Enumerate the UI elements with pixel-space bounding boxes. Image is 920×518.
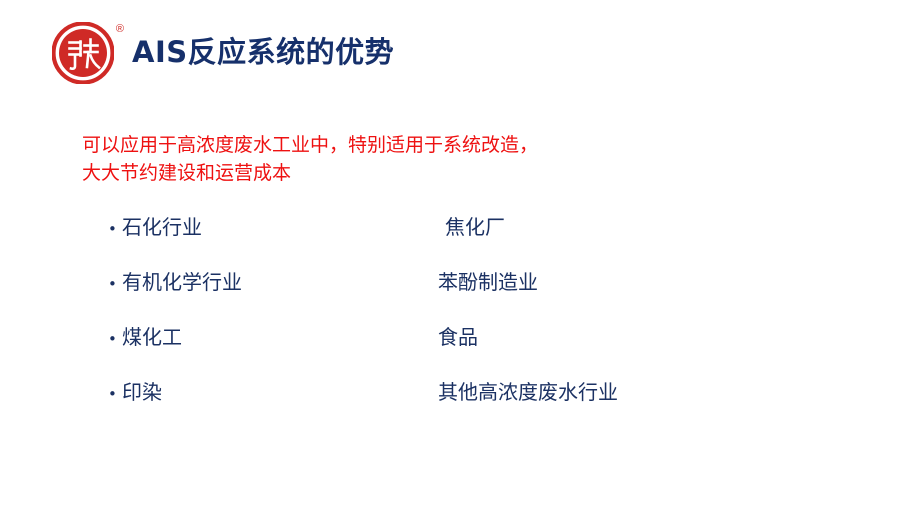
lead-paragraph: 可以应用于高浓度废水工业中，特别适用于系统改造， 大大节约建设和运营成本 (82, 131, 782, 187)
bullet-icon: • (108, 326, 122, 352)
list-row: • 石化行业 焦化厂 (108, 214, 848, 269)
registered-trademark-icon: ® (116, 24, 124, 35)
zhang-seal-logo-icon (52, 22, 114, 84)
page-title: AIS反应系统的优势 (132, 38, 394, 69)
company-logo: ® (52, 22, 114, 84)
list-item-label-left: 印染 (122, 379, 162, 405)
list-item-label-right: 其他高浓度废水行业 (438, 379, 618, 405)
list-item-label-left: 有机化学行业 (122, 269, 242, 295)
bullet-icon: • (108, 271, 122, 297)
list-item-left: • 石化行业 (108, 214, 438, 242)
list-row: • 有机化学行业 苯酚制造业 (108, 269, 848, 324)
list-item-left: • 印染 (108, 379, 438, 407)
bullet-icon: • (108, 216, 122, 242)
list-item-label-right: 苯酚制造业 (438, 269, 538, 295)
lead-line-1: 可以应用于高浓度废水工业中，特别适用于系统改造， (82, 131, 782, 159)
list-item-label-right: 焦化厂 (445, 214, 505, 240)
list-row: • 印染 其他高浓度废水行业 (108, 379, 848, 434)
slide-header: ® AIS反应系统的优势 (52, 20, 394, 86)
bullet-icon: • (108, 381, 122, 407)
list-item-left: • 有机化学行业 (108, 269, 438, 297)
list-row: • 煤化工 食品 (108, 324, 848, 379)
list-item-left: • 煤化工 (108, 324, 438, 352)
list-item-label-right: 食品 (438, 324, 478, 350)
list-item-label-left: 石化行业 (122, 214, 202, 240)
slide-canvas: ® AIS反应系统的优势 可以应用于高浓度废水工业中，特别适用于系统改造， 大大… (0, 0, 920, 518)
list-item-label-left: 煤化工 (122, 324, 182, 350)
lead-line-2: 大大节约建设和运营成本 (82, 159, 782, 187)
industry-list: • 石化行业 焦化厂 • 有机化学行业 苯酚制造业 • 煤化工 食品 • 印染 (108, 214, 848, 434)
